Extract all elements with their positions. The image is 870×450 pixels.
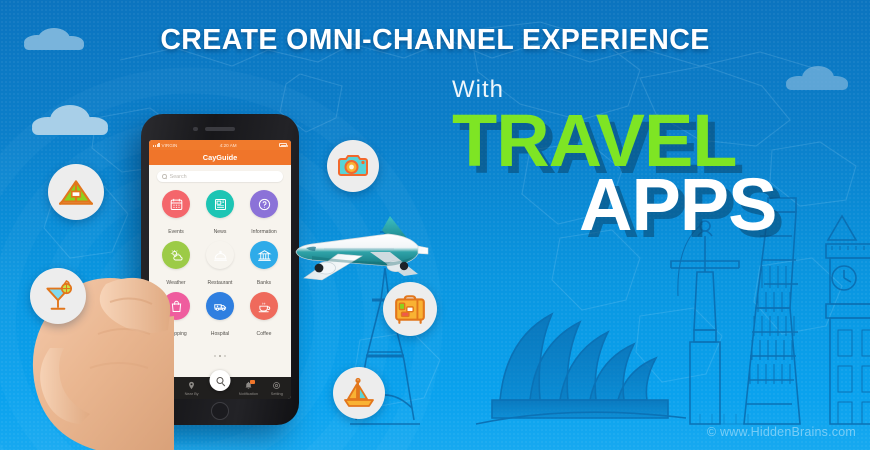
newspaper-icon: [213, 197, 228, 212]
signal-icon: [153, 143, 160, 147]
front-camera-icon: [193, 127, 198, 132]
search-icon: [162, 174, 167, 179]
gear-icon: [272, 381, 281, 390]
sailboat-icon: [343, 377, 375, 409]
app-tile-coffee[interactable]: Coffee: [242, 292, 286, 340]
tent-icon: [59, 175, 93, 209]
tent-badge[interactable]: [48, 164, 104, 220]
question-icon: [257, 197, 272, 212]
tab-label: Home: [149, 391, 177, 396]
apps-word: APPS: [579, 168, 777, 242]
app-title: CayGuide: [149, 150, 291, 165]
earpiece-icon: [205, 127, 235, 131]
app-tile-label: Banks: [257, 280, 271, 286]
page-title: CREATE OMNI-CHANNEL EXPERIENCE: [0, 24, 870, 57]
tab-notification[interactable]: Notification: [234, 381, 262, 396]
home-button[interactable]: [211, 402, 229, 420]
app-tile-label: Restaurant: [208, 280, 233, 286]
ambulance-icon: [213, 299, 228, 314]
app-tile-label: Information: [251, 229, 276, 235]
big-ben: [826, 216, 870, 424]
clock-label: 4:20 AM: [220, 143, 237, 148]
app-tile-weather[interactable]: Weather: [154, 241, 198, 289]
sailboat-badge[interactable]: [333, 367, 385, 419]
sydney-opera-house: [476, 314, 686, 424]
bottom-tab-bar: Home Near By: [149, 377, 291, 399]
app-tile-shopping[interactable]: Shopping: [154, 292, 198, 340]
tab-label: Near By: [177, 391, 205, 396]
smartphone-mockup: VIRGIN 4:20 AM CayGuide Search: [141, 114, 299, 425]
cocktail-badge[interactable]: [30, 268, 86, 324]
notification-badge: [250, 380, 255, 385]
battery-icon: [279, 143, 287, 147]
shopping-bag-icon: [169, 299, 184, 314]
app-tile-label: News: [214, 229, 227, 235]
watermark: © www.HiddenBrains.com: [707, 425, 856, 439]
app-tile-news[interactable]: News: [198, 190, 242, 238]
tab-home[interactable]: Home: [149, 381, 177, 396]
airplane-illustration: [278, 208, 448, 298]
carrier-label: VIRGIN: [162, 143, 178, 148]
app-grid: Events News: [149, 186, 291, 340]
app-tile-hospital[interactable]: Hospital: [198, 292, 242, 340]
cloud-icon: [786, 66, 848, 90]
bank-icon: [257, 248, 272, 263]
app-tile-label: Coffee: [257, 331, 272, 337]
calendar-icon: [169, 197, 184, 212]
pin-icon: [187, 381, 196, 390]
status-bar: VIRGIN 4:20 AM: [149, 140, 291, 150]
search-icon: [217, 377, 224, 384]
app-tile-restaurant[interactable]: Restaurant: [198, 241, 242, 289]
camera-icon: [337, 150, 369, 182]
search-placeholder: Search: [170, 174, 187, 180]
page-indicator: [149, 340, 291, 364]
home-icon: [159, 381, 168, 390]
app-tile-label: Weather: [166, 280, 185, 286]
tab-label: Notification: [234, 391, 262, 396]
travel-apps-banner: CREATE OMNI-CHANNEL EXPERIENCE With TRAV…: [0, 0, 870, 450]
app-tile-label: Hospital: [211, 331, 229, 337]
tab-label: Setting: [263, 391, 291, 396]
sun-cloud-icon: [169, 248, 184, 263]
christ-the-redeemer: [671, 221, 739, 424]
app-tile-label: Events: [168, 229, 184, 235]
tab-setting[interactable]: Setting: [263, 381, 291, 396]
tab-search[interactable]: [210, 370, 231, 391]
app-tile-events[interactable]: Events: [154, 190, 198, 238]
cocktail-icon: [41, 279, 75, 313]
cloud-icon: [32, 105, 108, 135]
search-input[interactable]: Search: [157, 171, 283, 182]
tab-near-by[interactable]: Near By: [177, 381, 205, 396]
app-tile-label: Shopping: [165, 331, 187, 337]
food-cloche-icon: [213, 248, 228, 263]
phone-screen: VIRGIN 4:20 AM CayGuide Search: [149, 140, 291, 399]
coffee-cup-icon: [257, 299, 272, 314]
camera-badge[interactable]: [327, 140, 379, 192]
